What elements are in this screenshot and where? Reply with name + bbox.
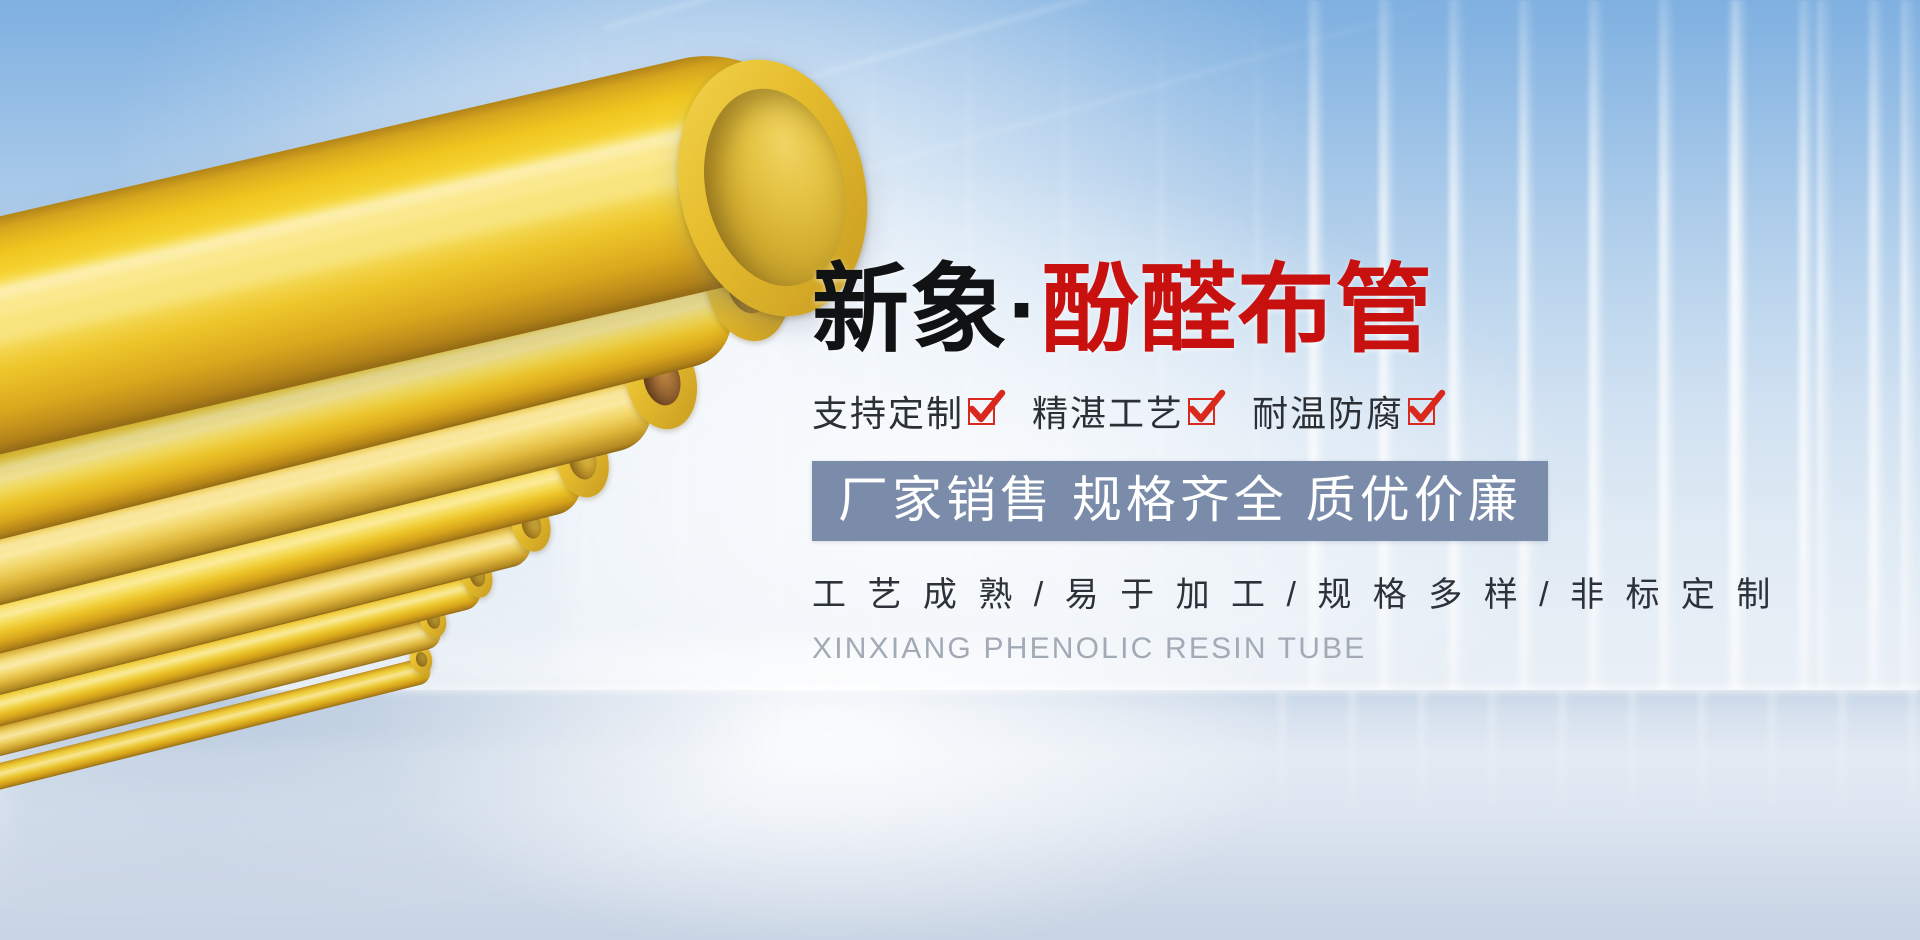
tagline-bar-text: 厂家销售 规格齐全 质优价廉: [838, 475, 1522, 525]
background-product-shadow: [0, 700, 760, 900]
feature-item-1: 精湛工艺: [1032, 385, 1222, 437]
product-banner: 新象·酚醛布管 支持定制 精湛工艺: [0, 0, 1920, 940]
page-title: 新象·酚醛布管: [812, 258, 1572, 363]
banner-text-content: 新象·酚醛布管 支持定制 精湛工艺: [812, 258, 1572, 666]
headline-separator-dot: ·: [1008, 255, 1041, 364]
checkbox-checked-icon: [1188, 394, 1222, 428]
feature-label-1: 精湛工艺: [1032, 385, 1184, 437]
feature-label-0: 支持定制: [812, 385, 964, 437]
tagline-bar: 厂家销售 规格齐全 质优价廉: [812, 461, 1548, 541]
background-floor-reflection-strips: [1250, 690, 1920, 840]
specs-line: 工 艺 成 熟 / 易 于 加 工 / 规 格 多 样 / 非 标 定 制: [812, 567, 1572, 616]
headline-product: 酚醛布管: [1041, 255, 1433, 364]
feature-item-0: 支持定制: [812, 385, 1002, 437]
product-image-phenolic-tubes: [0, 0, 680, 730]
checkbox-checked-icon: [968, 394, 1002, 428]
feature-item-2: 耐温防腐: [1252, 385, 1442, 437]
english-subtitle: XINXIANG PHENOLIC RESIN TUBE: [812, 632, 1572, 666]
feature-list: 支持定制 精湛工艺 耐温防腐: [812, 385, 1572, 437]
headline-brand: 新象: [812, 255, 1008, 364]
feature-label-2: 耐温防腐: [1252, 385, 1404, 437]
checkbox-checked-icon: [1408, 394, 1442, 428]
